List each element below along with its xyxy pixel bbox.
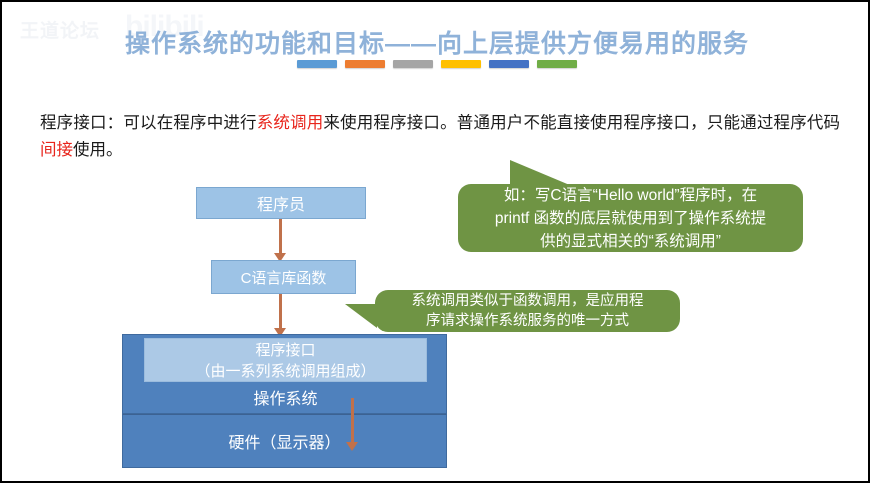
page-title: 操作系统的功能和目标——向上层提供方便易用的服务 bbox=[2, 24, 870, 60]
callout-printf-example: 如：写C语言“Hello world”程序时，在 printf 函数的底层就使用… bbox=[458, 184, 803, 252]
callout-system-call-definition: 系统调用类似于函数调用，是应用程 序请求操作系统服务的唯一方式 bbox=[375, 290, 680, 332]
bar-blue-light-icon bbox=[297, 60, 337, 68]
callout-syscall-text: 系统调用类似于函数调用，是应用程 序请求操作系统服务的唯一方式 bbox=[412, 291, 644, 331]
diagram-block-hardware: 硬件（显示器） bbox=[122, 414, 447, 468]
callout-syscall-line-2: 序请求操作系统服务的唯一方式 bbox=[412, 311, 644, 331]
callout-printf-line-1: 如：写C语言“Hello world”程序时，在 bbox=[495, 184, 766, 207]
body-text-segment-4: 使用。 bbox=[73, 141, 123, 159]
program-interface-line-2: （由一系列系统调用组成） bbox=[145, 361, 426, 382]
arrow-clib-to-interface-icon bbox=[274, 294, 287, 338]
slide-canvas: 王道论坛 bilibili 操作系统的功能和目标——向上层提供方便易用的服务 程… bbox=[0, 0, 870, 483]
arrow-os-to-hardware-icon bbox=[346, 398, 359, 454]
diagram-box-programmer: 程序员 bbox=[196, 187, 366, 219]
callout-printf-line-3: 供的显式相关的“系统调用” bbox=[495, 230, 766, 253]
body-text-segment-1: 程序接口：可以在程序中进行 bbox=[40, 114, 257, 132]
arrow-shaft bbox=[279, 294, 282, 330]
program-interface-line-1: 程序接口 bbox=[145, 340, 426, 361]
operating-system-label: 操作系统 bbox=[123, 385, 448, 409]
bar-yellow-icon bbox=[441, 60, 481, 68]
diagram-box-c-library: C语言库函数 bbox=[211, 260, 356, 294]
arrow-shaft bbox=[279, 219, 282, 255]
body-highlight-indirect: 间接 bbox=[40, 141, 73, 159]
arrow-programmer-to-clib-icon bbox=[274, 219, 287, 263]
callout-printf-text: 如：写C语言“Hello world”程序时，在 printf 函数的底层就使用… bbox=[495, 184, 766, 253]
title-decoration-bars bbox=[2, 60, 870, 68]
body-text-segment-3: 序代码 bbox=[790, 114, 840, 132]
diagram-box-program-interface: 程序接口 （由一系列系统调用组成） bbox=[144, 338, 427, 382]
callout-syscall-line-1: 系统调用类似于函数调用，是应用程 bbox=[412, 291, 644, 311]
arrow-head bbox=[346, 442, 358, 451]
body-paragraph: 程序接口：可以在程序中进行系统调用来使用程序接口。普通用户不能直接使用程序接口，… bbox=[40, 110, 840, 164]
callout-tail-icon bbox=[345, 304, 377, 328]
callout-printf-line-2: printf 函数的底层就使用到了操作系统提 bbox=[495, 207, 766, 230]
bar-blue-dark-icon bbox=[489, 60, 529, 68]
body-text-segment-2: 来使用程序接口。普通用户不能直接使用程序接口，只能通过程 bbox=[323, 114, 790, 132]
bar-gray-icon bbox=[393, 60, 433, 68]
callout-tail-icon bbox=[510, 160, 572, 186]
arrow-shaft bbox=[351, 398, 354, 444]
bar-orange-icon bbox=[345, 60, 385, 68]
body-highlight-syscall: 系统调用 bbox=[257, 114, 324, 132]
bar-green-icon bbox=[537, 60, 577, 68]
diagram-block-operating-system: 程序接口 （由一系列系统调用组成） 操作系统 bbox=[122, 334, 447, 414]
